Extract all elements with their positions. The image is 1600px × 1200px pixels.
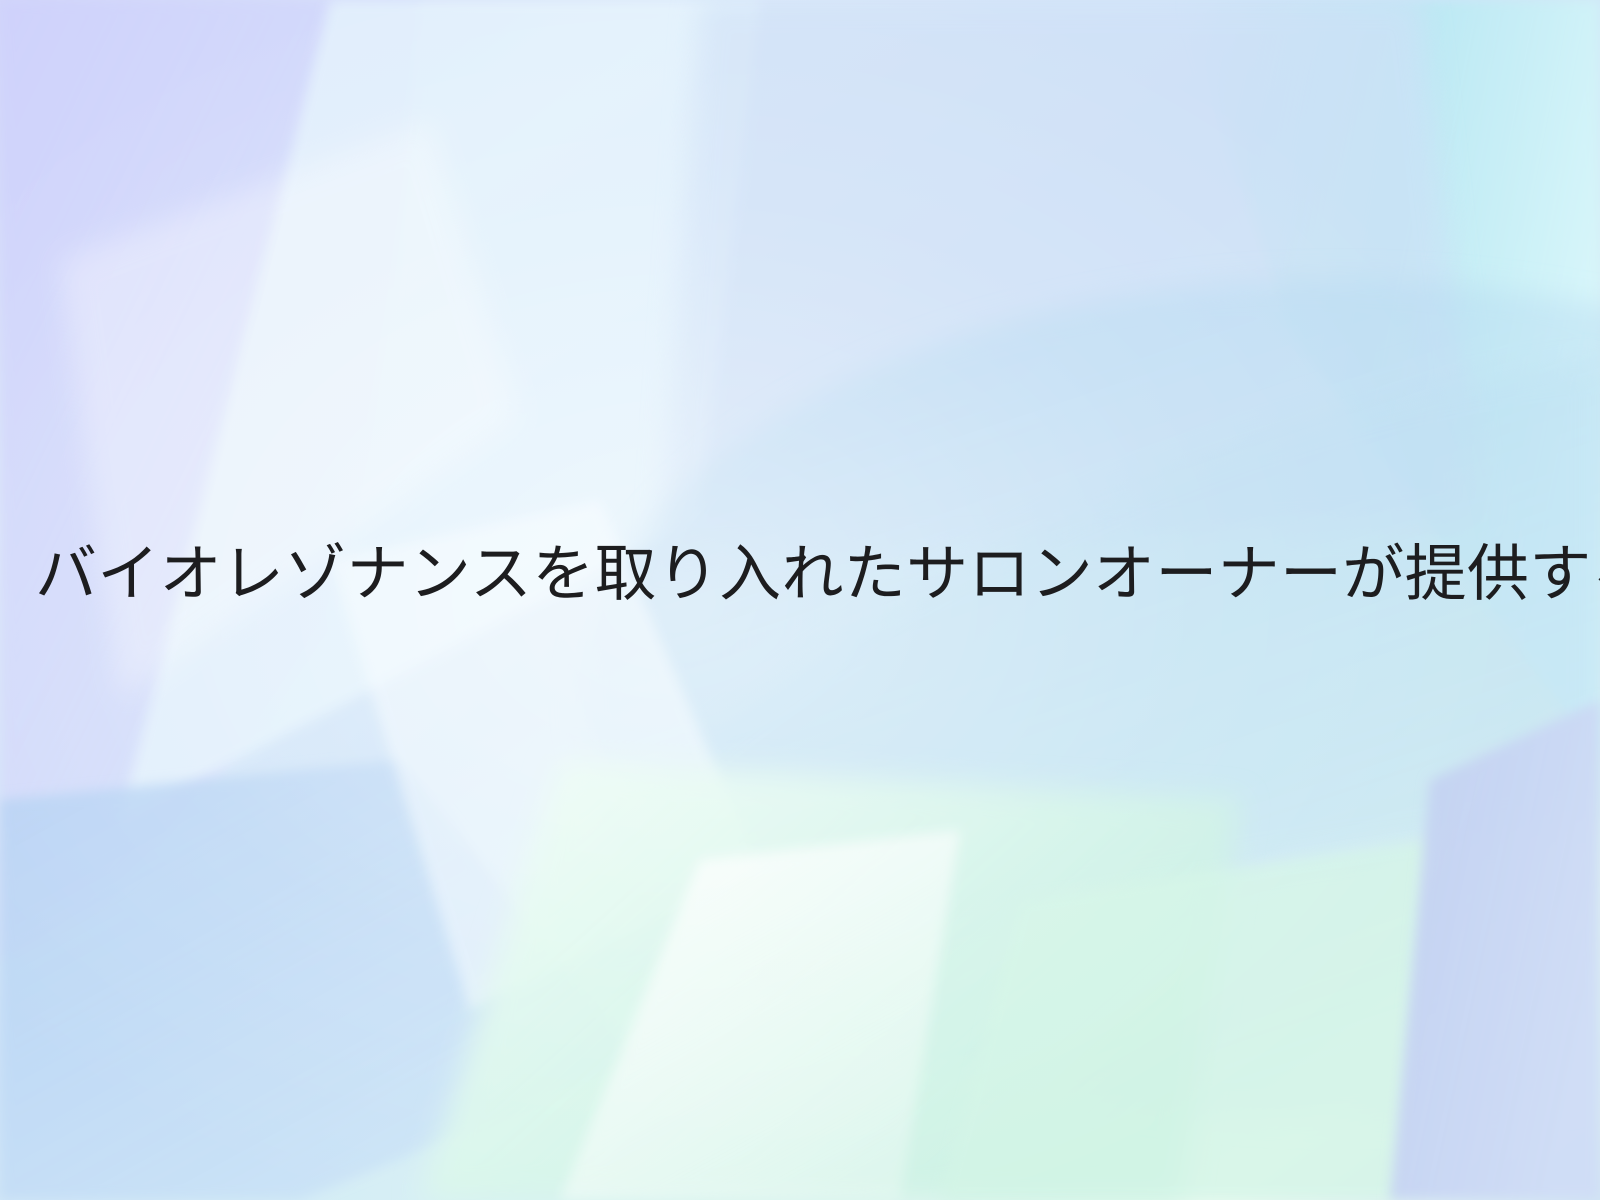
slide-canvas: バイオレゾナンスを取り入れたサロンオーナーが提供する安心の美容サービス [0,0,1600,1200]
background-graphic [0,0,1600,1200]
soft-glow-center [0,0,1600,1200]
